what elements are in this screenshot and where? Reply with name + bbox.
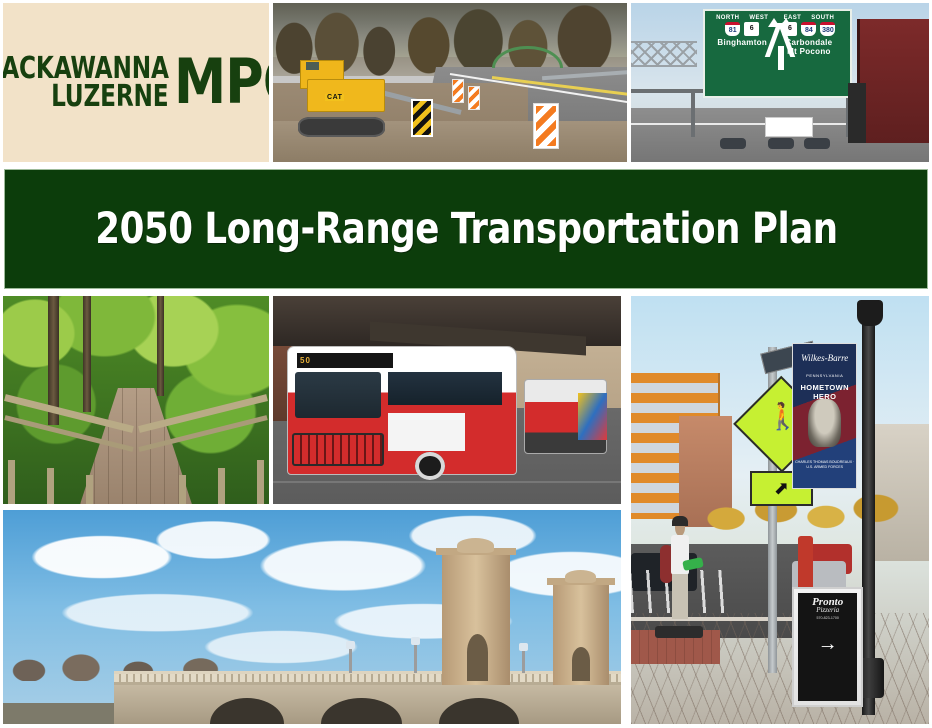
tree-trunk-2 — [83, 296, 91, 412]
pavement-line — [273, 481, 621, 483]
skateboard-on-ground — [655, 626, 703, 639]
bulldozer-window — [306, 62, 320, 70]
route-shield-380: 380 — [820, 22, 835, 36]
tree-trunk-3 — [157, 296, 164, 396]
wooden-trail-bridge-photo — [3, 296, 269, 504]
streetscape-scene: 🚶 ⬈ Wilkes-Barre PENNSYLVANIA HOMETOWN H… — [631, 296, 929, 724]
lamp-fixture — [857, 300, 883, 326]
bus-station-scene: 50 — [273, 296, 621, 504]
traffic-drum-1 — [468, 86, 480, 110]
highway-guide-sign-photo: NORTH WEST 81 6 Binghamton — [631, 3, 929, 162]
market-street-bridge-photo: Adopted January 13, 2026 — [3, 510, 621, 724]
bridge-lamp-1 — [349, 647, 352, 673]
guide-sign-right-half: EAST SOUTH 6 84 380 Carbondale Mt Pocono — [773, 15, 846, 57]
route-shields-left: 81 6 — [710, 22, 774, 36]
direction-east: EAST — [784, 15, 802, 21]
logo-acronym-mpo: MPO — [174, 56, 269, 109]
gantry-leg-left — [691, 89, 695, 137]
downtown-streetscape-photo: 🚶 ⬈ Wilkes-Barre PENNSYLVANIA HOMETOWN H… — [631, 296, 929, 724]
car-1 — [720, 138, 746, 149]
traffic-drum-2 — [452, 79, 464, 103]
bus-side-advert-panel — [388, 413, 465, 451]
direction-row-right: EAST SOUTH — [773, 15, 846, 21]
logo-line-luzerne: LUZERNE — [52, 83, 169, 111]
destination-binghamton: Binghamton — [710, 39, 774, 48]
bus-headsign: 50 — [297, 353, 393, 368]
banner-portrait — [808, 399, 841, 448]
bridge-railing-left — [6, 408, 128, 504]
bulldozer-body — [307, 79, 385, 113]
logo-wordmark: LACKAWANNA LUZERNE — [3, 55, 169, 111]
bus-wheel — [415, 452, 445, 480]
skateboarder — [661, 519, 700, 630]
highway-scene: NORTH WEST 81 6 Binghamton — [631, 3, 929, 162]
dump-truck — [857, 19, 929, 143]
guide-sign-left-half: NORTH WEST 81 6 Binghamton — [710, 15, 774, 48]
direction-row-left: NORTH WEST — [710, 15, 774, 21]
hometown-hero-banner: Wilkes-Barre PENNSYLVANIA HOMETOWN HERO … — [792, 343, 858, 489]
eagle-statue-1 — [457, 538, 494, 553]
route-shield-6: 6 — [744, 22, 759, 36]
car-3 — [804, 138, 830, 149]
transit-bus-photo: 50 — [273, 296, 621, 504]
bus-side-windows — [388, 372, 502, 405]
sidewalk-aframe-sign: Pronto Pizzeria 570-823-1700 → — [792, 587, 864, 707]
dump-truck-cab — [848, 83, 866, 143]
logo-lockup: LACKAWANNA LUZERNE MPO — [3, 55, 269, 111]
banner-city: Wilkes-Barre — [793, 353, 857, 363]
pylon-niche-2 — [572, 647, 591, 681]
skater-legs — [672, 574, 687, 619]
forest-scene — [3, 296, 269, 504]
highway-construction-photo: CAT — [273, 3, 627, 162]
secondary-sign-plate — [765, 117, 813, 136]
lamppost — [862, 305, 875, 716]
bus-windshield — [295, 372, 382, 418]
route-shield-6-east: 6 — [782, 22, 797, 36]
bridge-railing-right — [144, 408, 266, 504]
bulldozer: CAT — [294, 60, 397, 136]
direction-west: WEST — [749, 15, 768, 21]
direction-north: NORTH — [716, 15, 739, 21]
bridge-scene — [3, 510, 621, 724]
second-bus — [524, 379, 608, 454]
bike-rack — [292, 433, 383, 466]
agency-logo-panel: LACKAWANNA LUZERNE MPO — [3, 3, 269, 162]
direction-south: SOUTH — [811, 15, 834, 21]
primary-bus: 50 — [287, 346, 517, 475]
route-shields-right: 6 84 380 — [773, 22, 846, 36]
chevron-hazard-marker — [411, 99, 433, 137]
aframe-face: Pronto Pizzeria 570-823-1700 → — [798, 593, 858, 701]
page-title: 2050 Long-Range Transportation Plan — [95, 208, 837, 251]
aframe-phone: 570-823-1700 — [816, 616, 838, 620]
overhead-truss — [631, 41, 697, 66]
bulldozer-track — [298, 117, 384, 137]
down-left-arrow-icon: ⬈ — [774, 478, 789, 499]
bulldozer-brand-label: CAT — [325, 94, 344, 101]
aframe-type: Pizzeria — [816, 606, 839, 614]
bridge-lamp-2 — [414, 643, 417, 673]
guide-sign: NORTH WEST 81 6 Binghamton — [703, 9, 852, 98]
banner-honoree: CHARLES THOMAS BOUDREAUX · U.S. ARMED FO… — [793, 460, 857, 471]
destination-mt-pocono: Mt Pocono — [773, 48, 846, 57]
aframe-arrow-icon: → — [818, 634, 838, 654]
eagle-statue-2 — [565, 570, 596, 583]
pylon-niche-1 — [467, 634, 489, 681]
construction-scene: CAT — [273, 3, 627, 162]
route-shield-81: 81 — [725, 22, 740, 36]
title-banner: 2050 Long-Range Transportation Plan — [4, 169, 928, 289]
bridge-balustrade — [114, 671, 621, 686]
traffic-barricade — [533, 103, 559, 149]
banner-state: PENNSYLVANIA — [793, 373, 857, 378]
bridge-lamp-3 — [522, 649, 525, 673]
document-cover: LACKAWANNA LUZERNE MPO CAT — [0, 0, 932, 728]
route-shield-84: 84 — [801, 22, 816, 36]
car-2 — [768, 138, 794, 149]
skater-cap — [672, 516, 687, 526]
